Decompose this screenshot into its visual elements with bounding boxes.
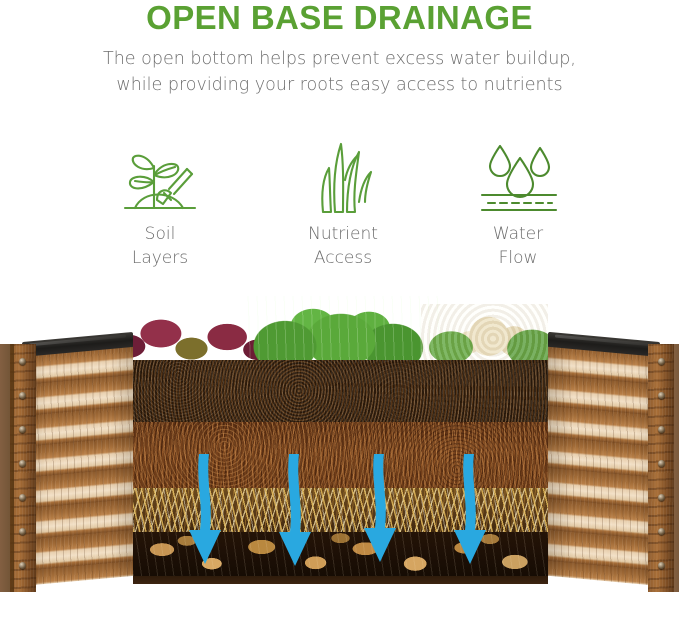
seedling-shovel-icon [75,134,245,214]
drainage-arrow [279,454,311,566]
feature-label-word-2: Layers [75,246,245,270]
grass-blades-icon [258,134,428,214]
page-subtitle: The open bottom helps prevent excess wat… [0,46,679,98]
drainage-arrow [189,454,221,564]
feature-nutrient-access-label: Nutrient Access [258,222,428,270]
feature-soil-layers-label: Soil Layers [75,222,245,270]
feature-water-flow: Water Flow [433,134,603,270]
feature-label-word-2: Flow [433,246,603,270]
header: OPEN BASE DRAINAGE The open bottom helps… [0,0,679,98]
subtitle-line-1: The open bottom helps prevent excess wat… [103,49,576,69]
subtitle-line-2: while providing your roots easy access t… [0,72,679,98]
feature-label-word-2: Access [258,246,428,270]
feature-soil-layers: Soil Layers [75,134,245,270]
drainage-arrow [364,454,396,562]
feature-label-word-1: Soil [145,224,176,244]
page-root: OPEN BASE DRAINAGE The open bottom helps… [0,0,679,644]
feature-water-flow-label: Water Flow [433,222,603,270]
feature-label-word-1: Water [493,224,543,244]
feature-label-word-1: Nutrient [308,224,378,244]
page-title: OPEN BASE DRAINAGE [0,0,679,36]
drainage-arrow-group [0,284,679,644]
drainage-arrow [454,454,486,564]
water-droplets-icon [433,134,603,214]
raised-garden-bed-cutaway [0,284,679,644]
feature-list: Soil Layers [0,134,679,284]
feature-nutrient-access: Nutrient Access [258,134,428,270]
